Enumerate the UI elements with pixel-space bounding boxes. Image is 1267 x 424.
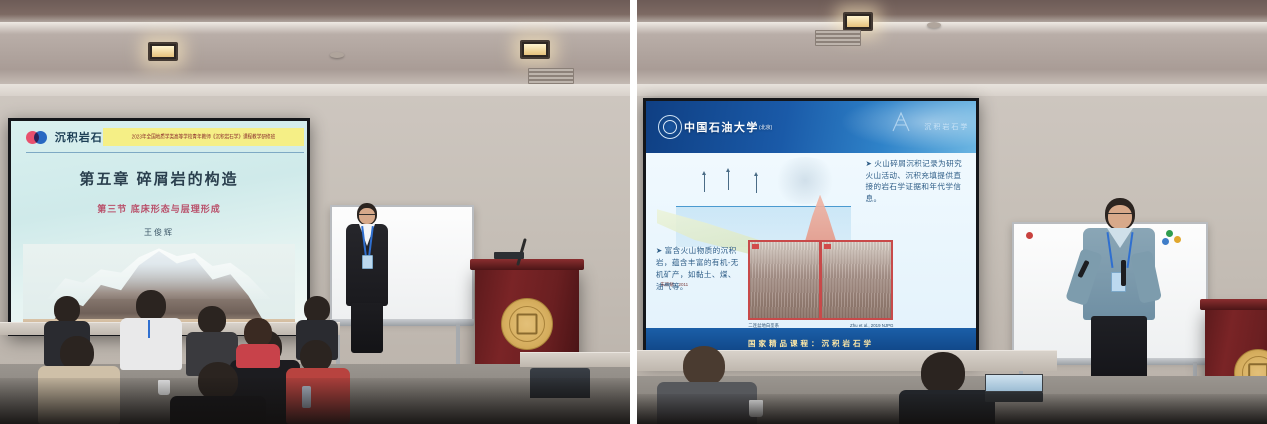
panel-divider (630, 0, 637, 424)
left-lecture-photo: 沉积岩石学 2023年全国地质学类高等学校青年教师《沉积岩石学》课程教学研修班 … (0, 0, 630, 424)
audience-head (54, 296, 80, 323)
bullet-bottom-text: 富含火山物质的沉积岩，蕴含丰富的有机-无机矿产，如黏土、煤、油气等。 (656, 246, 739, 290)
lecture-room-right: 中国石油大学(北京) 沉积岩石学 (637, 0, 1267, 424)
bullet-marker-icon: ➤ (656, 246, 663, 255)
air-vent-icon (528, 68, 574, 84)
smoke-detector-icon (330, 52, 344, 58)
audience-member (236, 318, 280, 366)
slide-header-band: 中国石油大学(北京) 沉积岩石学 (646, 101, 976, 153)
magnet-icon (1174, 236, 1181, 243)
ceiling-downlight-icon (148, 42, 178, 61)
lectern-top (470, 259, 584, 270)
slide-author: 王俊辉 (11, 227, 307, 238)
microphone-icon (1121, 260, 1126, 286)
university-name-text: 中国石油大学 (684, 122, 759, 134)
foreground-shadow (637, 394, 1267, 424)
laptop (494, 252, 524, 259)
magnet-icon (1166, 230, 1173, 237)
two-circle-logo (26, 131, 48, 144)
right-lecture-photo: 中国石油大学(北京) 沉积岩石学 (637, 0, 1267, 424)
university-seal-icon (658, 115, 682, 139)
flow-arrow-icon (704, 174, 705, 193)
ceiling-downlight-icon (843, 12, 873, 31)
glasses-icon (1108, 213, 1132, 216)
audience-member (120, 290, 182, 370)
foreground-shadow (0, 378, 630, 424)
desk-row (520, 352, 630, 367)
flow-arrow-icon (756, 175, 757, 194)
university-name: 中国石油大学(北京) (684, 119, 772, 135)
laptop-screen (985, 374, 1043, 392)
bullet-right-text: 火山碎屑沉积记录为研究火山活动、沉积充填提供直接的岩石学证据和年代学信息。 (865, 159, 962, 203)
smoke-detector-icon (927, 22, 941, 28)
slide-volcaniclastic: 中国石油大学(北京) 沉积岩石学 (646, 101, 976, 359)
core-photo (750, 242, 819, 318)
speaker-in-suit (340, 203, 394, 353)
slide-event-banner: 2023年全国地质学类高等学校青年教师《沉积岩石学》课程教学研修班 (103, 128, 304, 146)
core-photo-pair (748, 240, 893, 320)
ceiling-soffit-right (637, 22, 1267, 90)
whiteboard-leg (456, 324, 460, 368)
audience-head (244, 318, 272, 347)
lecture-room-left: 沉积岩石学 2023年全国地质学类高等学校青年教师《沉积岩石学》课程教学研修班 … (0, 0, 630, 424)
audience-head (683, 346, 725, 386)
slide-title: 第五章 碎屑岩的构造 (11, 168, 307, 189)
ceiling-downlight-icon (520, 40, 550, 59)
speaker-trousers (351, 303, 383, 353)
slide-header-right-text: 沉积岩石学 (924, 122, 969, 132)
speaker-face (1108, 205, 1132, 229)
lanyard (148, 320, 150, 338)
bullet-marker-icon: ➤ (865, 159, 872, 168)
photo-pair-stage: 沉积岩石学 2023年全国地质学类高等学校青年教师《沉积岩石学》课程教学研修班 … (0, 0, 1267, 424)
slide-subtitle: 第三节 底床形态与层理形成 (11, 202, 307, 215)
oil-rig-icon (889, 110, 913, 132)
audience-head (304, 296, 330, 322)
slide-event-banner-text: 2023年全国地质学类高等学校青年教师《沉积岩石学》课程教学研修班 (132, 134, 275, 142)
university-emblem-icon (501, 298, 553, 350)
audience-head (136, 290, 166, 321)
audience-head (198, 306, 226, 334)
core-photo (822, 242, 891, 318)
ash-plume (771, 157, 838, 203)
speaker-in-sweater (1077, 198, 1163, 388)
slide-brand: 沉积岩石学 (26, 129, 115, 145)
flow-arrow-icon (728, 171, 729, 190)
slide-footer-text: 国家精品课程：沉积岩石学 (748, 338, 874, 349)
glasses-icon (359, 214, 375, 217)
magnet-icon (1026, 232, 1033, 239)
lectern-top (1200, 299, 1267, 310)
audience-head (60, 336, 94, 370)
bullet-right: ➤火山碎屑沉积记录为研究火山活动、沉积充填提供直接的岩石学证据和年代学信息。 (865, 158, 967, 205)
name-badge (362, 255, 373, 269)
magnet-icon (1162, 238, 1169, 245)
audience-head (921, 352, 965, 394)
slide-divider (26, 152, 304, 153)
university-name-suffix: (北京) (759, 125, 772, 131)
air-vent-icon (815, 30, 861, 46)
bullet-bottom: ➤富含火山物质的沉积岩，蕴含丰富的有机-无机矿产，如黏土、煤、油气等。 (656, 245, 742, 292)
projection-screen-right: 中国石油大学(北京) 沉积岩石学 (643, 98, 979, 362)
